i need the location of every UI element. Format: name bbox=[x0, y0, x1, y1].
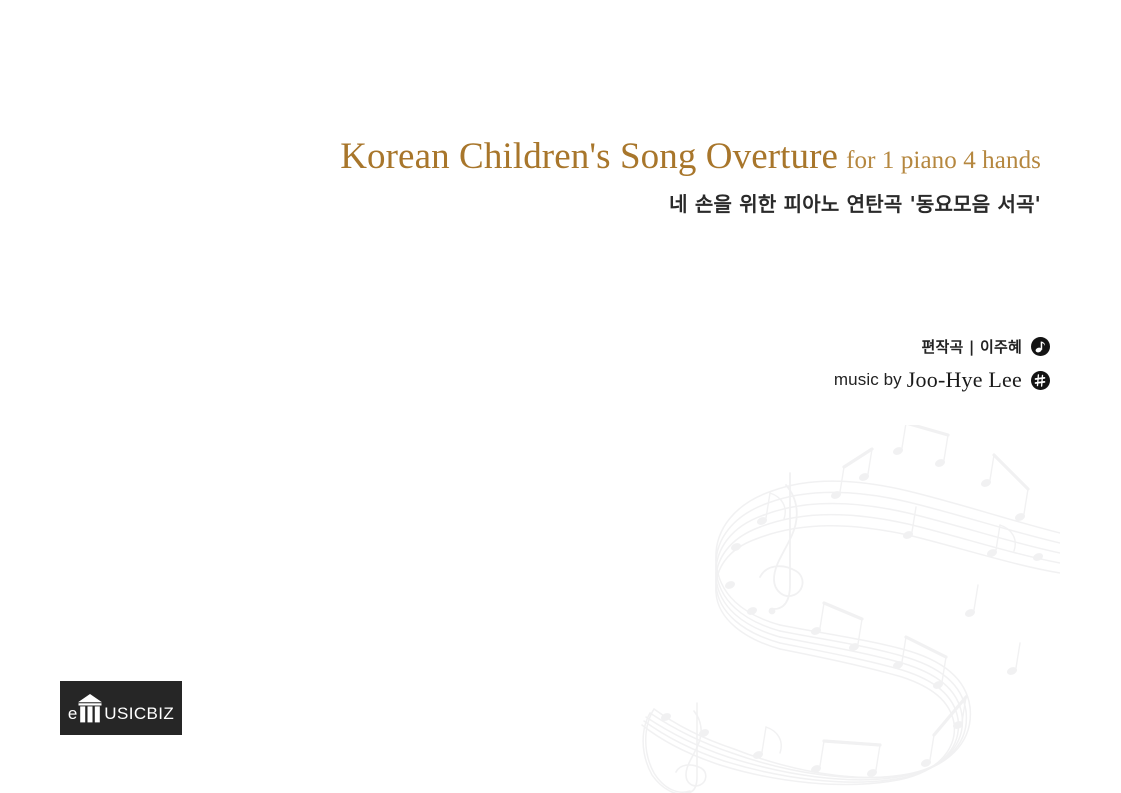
page-subtitle-korean: 네 손을 위한 피아노 연탄곡 '동요모음 서곡' bbox=[669, 192, 1041, 216]
title-line: Korean Children's Song Overturefor 1 pia… bbox=[0, 138, 1041, 175]
music-staff-swirl-decoration bbox=[640, 425, 1060, 793]
logo-suffix-letters: USICBIZ bbox=[104, 705, 174, 722]
subtitle-line: 네 손을 위한 피아노 연탄곡 '동요모음 서곡' bbox=[0, 188, 1041, 217]
cover-page: Korean Children's Song Overturefor 1 pia… bbox=[0, 0, 1121, 793]
credit-row-arranger: 편작곡 | 이주혜 bbox=[0, 336, 1050, 357]
arranger-credit-korean: 편작곡 | 이주혜 bbox=[921, 336, 1022, 357]
composer-name: Joo-Hye Lee bbox=[907, 367, 1022, 393]
title-instrumentation: for 1 piano 4 hands bbox=[846, 147, 1041, 174]
credit-row-composer: music by Joo-Hye Lee bbox=[0, 367, 1050, 393]
eighth-note-icon bbox=[1031, 337, 1050, 356]
credits-block: 편작곡 | 이주혜 music by Joo-Hye Lee bbox=[0, 336, 1050, 393]
logo-wordmark: e USICBIZ bbox=[68, 693, 174, 723]
temple-column-m-icon bbox=[77, 693, 103, 723]
title-block: Korean Children's Song Overturefor 1 pia… bbox=[0, 138, 1041, 217]
page-title: Korean Children's Song Overture bbox=[340, 136, 838, 177]
composer-credit-prefix: music by bbox=[834, 370, 902, 390]
sharp-note-icon bbox=[1031, 371, 1050, 390]
publisher-logo[interactable]: e USICBIZ bbox=[60, 681, 182, 735]
logo-prefix-letter: e bbox=[68, 705, 77, 722]
